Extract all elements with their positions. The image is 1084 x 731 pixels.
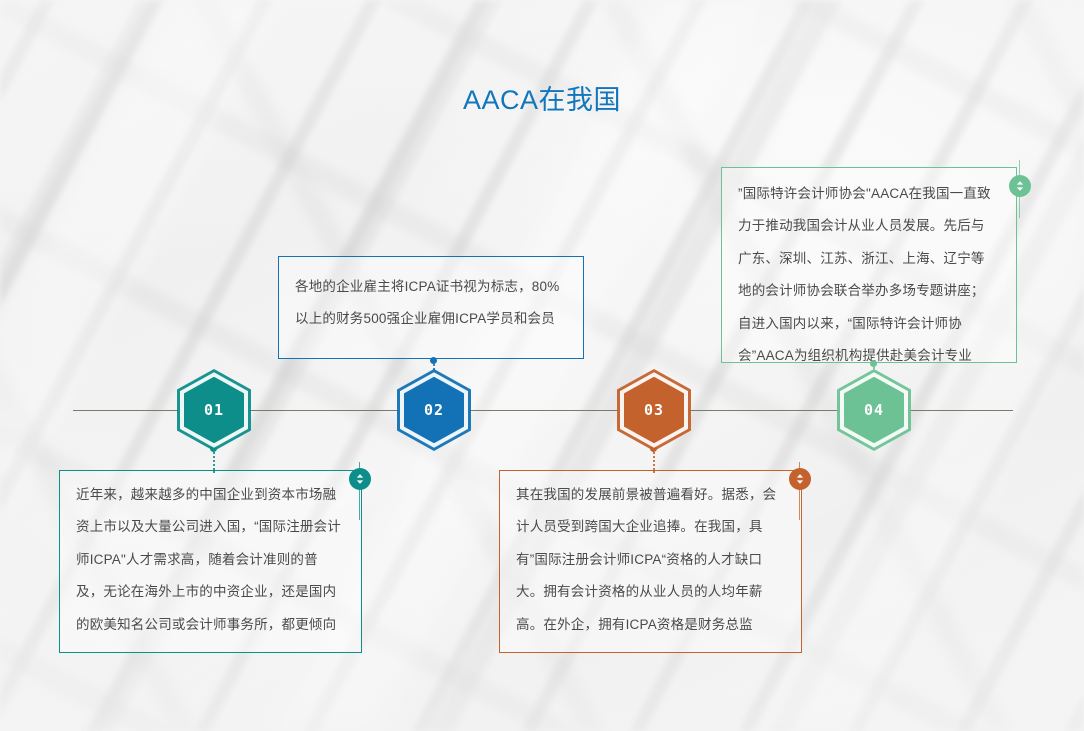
content-card-03-body: 其在我国的发展前景被普遍看好。据悉，会计人员受到跨国大企业追捧。在我国，具有”国… (516, 479, 783, 641)
timeline-node-03[interactable]: 03 (617, 369, 691, 451)
connector-dot-02 (430, 357, 437, 364)
connector-dot-04 (870, 360, 877, 367)
chevron-up-down-icon (1014, 179, 1026, 193)
scroll-badge-01[interactable] (349, 468, 371, 490)
chevron-up-down-icon (354, 472, 366, 486)
content-card-01[interactable]: 近年来，越来越多的中国企业到资本市场融资上市以及大量公司进入国，“国际注册会计师… (59, 470, 362, 653)
content-card-04-body: ”国际特许会计师协会"AACA在我国一直致力于推动我国会计从业人员发展。先后与广… (738, 178, 998, 372)
connector-03 (653, 449, 655, 473)
page-title: AACA在我国 (0, 78, 1084, 117)
content-card-02-text: 各地的企业雇主将ICPA证书视为标志，80%以上的财务500强企业雇佣ICPA学… (295, 271, 565, 336)
slide-canvas: AACA在我国 ”国际特许会计师协会"AACA在我国一直致力于推动我国会计从业人… (0, 0, 1084, 731)
content-card-04-text: ”国际特许会计师协会"AACA在我国一直致力于推动我国会计从业人员发展。先后与广… (738, 178, 998, 372)
content-card-02-body: 各地的企业雇主将ICPA证书视为标志，80%以上的财务500强企业雇佣ICPA学… (295, 271, 565, 336)
content-card-01-text: 近年来，越来越多的中国企业到资本市场融资上市以及大量公司进入国，“国际注册会计师… (76, 479, 343, 641)
timeline-node-02-number: 02 (397, 369, 471, 451)
chevron-up-down-icon (794, 472, 806, 486)
timeline-node-01-number: 01 (177, 369, 251, 451)
content-card-02[interactable]: 各地的企业雇主将ICPA证书视为标志，80%以上的财务500强企业雇佣ICPA学… (278, 256, 584, 359)
timeline-node-01[interactable]: 01 (177, 369, 251, 451)
content-card-03-text: 其在我国的发展前景被普遍看好。据悉，会计人员受到跨国大企业追捧。在我国，具有”国… (516, 479, 783, 641)
scroll-badge-04[interactable] (1009, 175, 1031, 197)
timeline-node-03-number: 03 (617, 369, 691, 451)
timeline-node-02[interactable]: 02 (397, 369, 471, 451)
connector-01 (213, 449, 215, 473)
content-card-01-body: 近年来，越来越多的中国企业到资本市场融资上市以及大量公司进入国，“国际注册会计师… (76, 479, 343, 641)
content-card-03[interactable]: 其在我国的发展前景被普遍看好。据悉，会计人员受到跨国大企业追捧。在我国，具有”国… (499, 470, 802, 653)
timeline-node-04-number: 04 (837, 369, 911, 451)
content-card-04[interactable]: ”国际特许会计师协会"AACA在我国一直致力于推动我国会计从业人员发展。先后与广… (721, 167, 1017, 363)
scroll-badge-03[interactable] (789, 468, 811, 490)
timeline-node-04[interactable]: 04 (837, 369, 911, 451)
